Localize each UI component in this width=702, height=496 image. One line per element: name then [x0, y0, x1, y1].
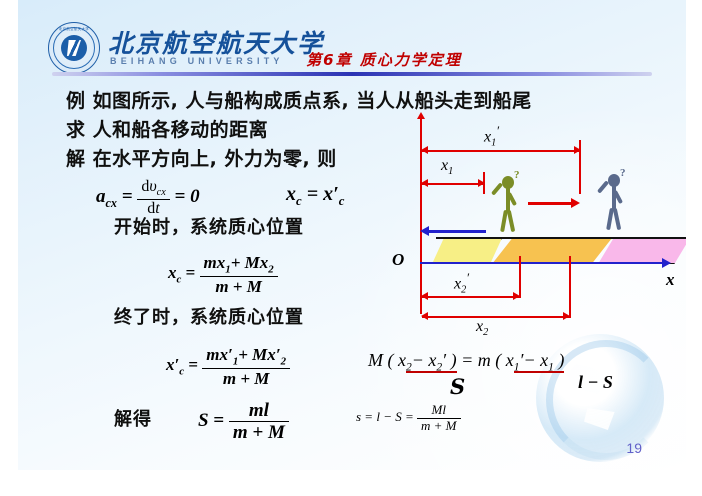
person-arm-left-a	[491, 182, 503, 195]
chapter-title: 第6章 质心力学定理	[18, 49, 686, 70]
person-leg-left-b	[507, 210, 515, 232]
boat-segment-yellow	[432, 238, 502, 264]
eq3-denominator: m + M	[202, 368, 290, 388]
problem-statement-line1: 例 如图所示, 人与船构成质点系, 当人从船头走到船尾	[66, 86, 532, 113]
eq3-plus: + Mx	[238, 345, 276, 364]
eq1-denominator: dt	[137, 199, 169, 218]
eq4-equals: =	[213, 410, 229, 431]
label-x1: x1	[441, 157, 453, 177]
eq3-sub2: 2	[281, 355, 286, 367]
eq3-equals: =	[188, 355, 202, 374]
boat-direction-arrow-icon	[420, 226, 429, 236]
x1-prime-mark: ′	[496, 123, 499, 138]
eq1b-rhs-sub: c	[339, 194, 345, 208]
stick-figure-person-initial: ?	[492, 172, 526, 234]
x2-arrow-left-icon	[421, 312, 428, 320]
eq2-sub2: 2	[268, 263, 273, 275]
eq4-denominator: m + M	[229, 421, 289, 443]
slide-canvas: 北京航空航天大学 北京航空航天大学 BEIHANG UNIVERSITY 第6章…	[18, 0, 686, 470]
origin-label: O	[392, 250, 404, 270]
eq1-a: a	[96, 186, 106, 207]
question-mark-left: ?	[514, 169, 520, 181]
equation-initial-com: xc = mx1+ Mx2 m + M	[168, 253, 278, 296]
x1-arrow-left-icon	[421, 179, 428, 187]
eq1-a-sub: cx	[106, 196, 117, 210]
eq5-prime-b: ′ )	[442, 350, 456, 370]
eq3-fraction: mx′1+ Mx′2 m + M	[202, 345, 290, 388]
eq5-M: M ( x	[368, 350, 406, 370]
eq1b-xprime: x	[323, 183, 333, 205]
x2-prime-arrow-right-icon	[513, 292, 520, 300]
eq1-upsilon: υ	[149, 178, 156, 195]
eq3-numerator: mx′1+ Mx′2	[202, 345, 290, 368]
eq2-x-sub: c	[177, 274, 182, 286]
x1-sub: 1	[448, 166, 453, 177]
x1-prime-arrow-left-icon	[421, 146, 428, 154]
page-number: 19	[626, 440, 642, 456]
x1-prime-end-tick	[579, 140, 581, 194]
x-axis-line	[420, 262, 664, 264]
brace-label-S: S	[450, 374, 465, 399]
eq2-denominator: m + M	[200, 276, 278, 296]
eq4-numerator: ml	[229, 400, 289, 421]
boat-segment-pink	[598, 238, 686, 264]
question-mark-right: ?	[620, 167, 626, 179]
equation-result-s: s = l − S = Ml m + M	[356, 403, 461, 433]
eq5-minus2: − x	[523, 350, 548, 370]
eq1-numerator: dυcx	[137, 178, 169, 199]
dimension-line-x2-prime	[422, 296, 520, 298]
eq3-x: x	[166, 355, 175, 374]
origin-line-arrowhead-icon	[417, 112, 425, 119]
eq2-plus: + Mx	[231, 253, 269, 272]
eq1-den-t: t	[155, 200, 159, 217]
dimension-line-x1	[422, 183, 484, 185]
eq1-fraction: dυcx dt	[137, 178, 169, 218]
eq3-mx: mx	[206, 345, 228, 364]
person-arm-right-a	[597, 180, 609, 193]
eq1b-x: x	[286, 183, 296, 205]
boat-direction-line	[426, 230, 486, 233]
x2-sub: 2	[483, 327, 488, 338]
eq2-equals: =	[186, 263, 200, 282]
eq6-fraction: Ml m + M	[417, 403, 461, 433]
physics-diagram: x1′ x1 ? ?	[408, 110, 686, 340]
eq2-fraction: mx1+ Mx2 m + M	[200, 253, 278, 296]
slide-header: 北京航空航天大学 北京航空航天大学 BEIHANG UNIVERSITY 第6章…	[18, 0, 686, 78]
walk-direction-arrow-icon	[571, 198, 580, 208]
eq1b-equals: =	[307, 183, 318, 205]
result-label: 解得	[114, 405, 152, 431]
header-divider	[52, 72, 652, 76]
label-x2: x2	[476, 318, 488, 338]
final-com-label: 终了时，系统质心位置	[114, 303, 304, 329]
eq1b-sub: c	[296, 194, 302, 208]
eq5-equals-m: = m ( x	[461, 350, 514, 370]
globe-landmass-secondary-icon	[584, 408, 618, 430]
stick-figure-person-final: ?	[598, 170, 632, 232]
dimension-line-x1-prime	[422, 150, 580, 152]
eq2-numerator: mx1+ Mx2	[200, 253, 278, 276]
eq5-right-underline: 1′− x1 )	[514, 350, 565, 373]
x2-prime-mark: ′	[466, 270, 469, 285]
equation-final-com: x′c = mx′1+ Mx′2 m + M	[166, 345, 290, 388]
x-axis-label: x	[666, 270, 675, 290]
label-x1-prime: x1′	[484, 123, 499, 149]
eq6-numerator: Ml	[417, 403, 461, 418]
eq5-left-underline: 2− x2′ )	[406, 350, 457, 373]
x-axis-arrow-icon	[662, 258, 671, 268]
brace-label-l-minus-S: l − S	[578, 372, 613, 393]
x1-end-tick	[483, 172, 485, 194]
problem-statement-line2: 求 人和船各移动的距离	[66, 115, 268, 142]
equation-result-S: S = ml m + M	[198, 400, 289, 444]
equation-displacement-relation: M ( x2− x2′ ) = m ( x1′− x1 )	[368, 350, 564, 374]
equation-com-equality: xc = x′c	[286, 183, 344, 209]
eq5-minus: − x	[412, 350, 437, 370]
walk-direction-line	[528, 202, 572, 205]
solution-line1: 解 在水平方向上, 外力为零, 则	[66, 144, 337, 171]
label-x2-prime: x2′	[454, 270, 469, 296]
eq4-S: S	[198, 410, 209, 431]
eq6-lhs: s = l − S =	[356, 409, 414, 424]
eq1-num-sub: cx	[157, 187, 166, 198]
x2-arrow-right-icon	[563, 312, 570, 320]
eq2-x: x	[168, 263, 177, 282]
equation-acceleration: acx = dυcx dt = 0	[96, 178, 200, 218]
dimension-line-x2	[422, 316, 570, 318]
eq6-denominator: m + M	[417, 418, 461, 434]
x2-end-tick	[569, 256, 571, 318]
crest-microtext: 北京航空航天大学	[49, 26, 99, 31]
x2-prime-sub: 2	[461, 285, 466, 296]
eq5-close: )	[554, 350, 565, 370]
eq2-mx: mx	[204, 253, 226, 272]
eq1-equals: =	[122, 186, 133, 207]
boat-deck-line	[436, 237, 686, 239]
boat-segment-orange	[492, 238, 612, 264]
x1-prime-sub: 1	[491, 138, 496, 149]
eq3-x-sub: c	[179, 366, 184, 378]
eq1-rhs: = 0	[175, 186, 200, 207]
person-leg-right-b	[613, 208, 621, 230]
x2-prime-arrow-left-icon	[421, 292, 428, 300]
eq4-fraction: ml m + M	[229, 400, 289, 444]
